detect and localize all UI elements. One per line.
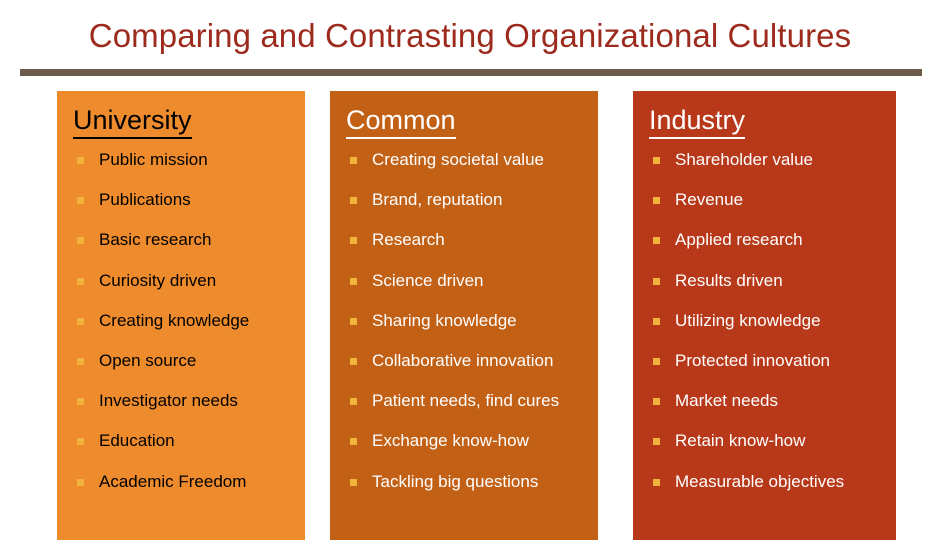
list-item-label: Protected innovation	[675, 351, 830, 370]
list-item: Publications	[73, 189, 295, 211]
bullet-square-icon	[77, 157, 84, 164]
list-item-label: Applied research	[675, 230, 803, 249]
column-list-common: Creating societal value Brand, reputatio…	[340, 149, 588, 493]
column-list-university: Public mission Publications Basic resear…	[67, 149, 295, 493]
list-item-label: Research	[372, 230, 445, 249]
bullet-square-icon	[350, 438, 357, 445]
bullet-square-icon	[350, 398, 357, 405]
bullet-square-icon	[653, 157, 660, 164]
list-item-label: Academic Freedom	[99, 472, 246, 491]
bullet-square-icon	[350, 479, 357, 486]
bullet-square-icon	[350, 197, 357, 204]
list-item: Curiosity driven	[73, 270, 295, 292]
list-item: Creating knowledge	[73, 310, 295, 332]
list-item-label: Market needs	[675, 391, 778, 410]
bullet-square-icon	[653, 237, 660, 244]
bullet-square-icon	[653, 278, 660, 285]
page-title: Comparing and Contrasting Organizational…	[24, 8, 916, 64]
title-divider	[20, 69, 922, 76]
bullet-square-icon	[653, 318, 660, 325]
comparison-columns: University Public mission Publications B…	[0, 91, 940, 540]
list-item: Applied research	[649, 229, 886, 251]
list-item: Shareholder value	[649, 149, 886, 171]
list-item-label: Measurable objectives	[675, 472, 844, 491]
list-item-label: Creating societal value	[372, 150, 544, 169]
bullet-square-icon	[653, 197, 660, 204]
bullet-square-icon	[77, 237, 84, 244]
column-heading-university: University	[73, 104, 192, 139]
column-industry: Industry Shareholder value Revenue Appli…	[633, 91, 896, 540]
column-common: Common Creating societal value Brand, re…	[330, 91, 598, 540]
list-item-label: Results driven	[675, 271, 783, 290]
list-item: Revenue	[649, 189, 886, 211]
bullet-square-icon	[77, 438, 84, 445]
list-item-label: Sharing knowledge	[372, 311, 517, 330]
list-item-label: Collaborative innovation	[372, 351, 553, 370]
bullet-square-icon	[350, 278, 357, 285]
list-item-label: Public mission	[99, 150, 208, 169]
column-list-industry: Shareholder value Revenue Applied resear…	[643, 149, 886, 493]
list-item: Public mission	[73, 149, 295, 171]
list-item: Protected innovation	[649, 350, 886, 372]
list-item-label: Basic research	[99, 230, 211, 249]
list-item-label: Tackling big questions	[372, 472, 538, 491]
list-item-label: Utilizing knowledge	[675, 311, 821, 330]
list-item-label: Publications	[99, 190, 191, 209]
list-item-label: Revenue	[675, 190, 743, 209]
list-item: Academic Freedom	[73, 471, 295, 493]
bullet-square-icon	[77, 479, 84, 486]
bullet-square-icon	[350, 237, 357, 244]
list-item: Creating societal value	[346, 149, 588, 171]
list-item-label: Brand, reputation	[372, 190, 502, 209]
bullet-square-icon	[350, 358, 357, 365]
bullet-square-icon	[77, 318, 84, 325]
list-item: Exchange know-how	[346, 430, 588, 452]
list-item-label: Exchange know-how	[372, 431, 529, 450]
bullet-square-icon	[77, 358, 84, 365]
list-item: Tackling big questions	[346, 471, 588, 493]
list-item: Results driven	[649, 270, 886, 292]
list-item: Education	[73, 430, 295, 452]
bullet-square-icon	[350, 157, 357, 164]
bullet-square-icon	[653, 479, 660, 486]
list-item-label: Curiosity driven	[99, 271, 216, 290]
list-item-label: Patient needs, find cures	[372, 391, 559, 410]
list-item-label: Investigator needs	[99, 391, 238, 410]
column-heading-industry: Industry	[649, 104, 745, 139]
list-item: Sharing knowledge	[346, 310, 588, 332]
list-item: Measurable objectives	[649, 471, 886, 493]
list-item: Retain know-how	[649, 430, 886, 452]
bullet-square-icon	[77, 197, 84, 204]
column-university: University Public mission Publications B…	[57, 91, 305, 540]
list-item: Research	[346, 229, 588, 251]
bullet-square-icon	[77, 398, 84, 405]
list-item-label: Open source	[99, 351, 196, 370]
list-item: Science driven	[346, 270, 588, 292]
bullet-square-icon	[653, 398, 660, 405]
bullet-square-icon	[77, 278, 84, 285]
list-item: Utilizing knowledge	[649, 310, 886, 332]
list-item: Investigator needs	[73, 390, 295, 412]
list-item: Basic research	[73, 229, 295, 251]
list-item: Market needs	[649, 390, 886, 412]
slide-canvas: Comparing and Contrasting Organizational…	[0, 0, 940, 560]
bullet-square-icon	[653, 358, 660, 365]
list-item-label: Creating knowledge	[99, 311, 249, 330]
list-item-label: Education	[99, 431, 175, 450]
list-item: Open source	[73, 350, 295, 372]
bullet-square-icon	[350, 318, 357, 325]
list-item-label: Retain know-how	[675, 431, 805, 450]
list-item-label: Shareholder value	[675, 150, 813, 169]
list-item-label: Science driven	[372, 271, 484, 290]
bullet-square-icon	[653, 438, 660, 445]
column-heading-common: Common	[346, 104, 456, 139]
list-item: Collaborative innovation	[346, 350, 588, 372]
list-item: Brand, reputation	[346, 189, 588, 211]
list-item: Patient needs, find cures	[346, 390, 588, 412]
